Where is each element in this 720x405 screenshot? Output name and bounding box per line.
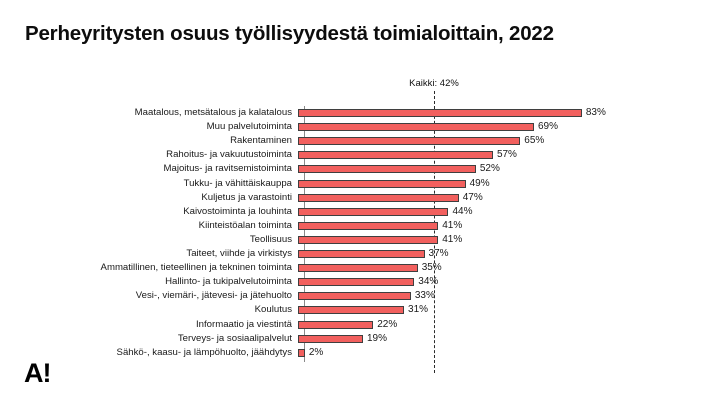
bar [298, 236, 438, 244]
slide-canvas: Perheyritysten osuus työllisyydestä toim… [0, 0, 720, 405]
bar-track: 83% [298, 106, 720, 120]
bar-value-label: 22% [377, 320, 397, 330]
bar-row: Tukku- ja vähittäiskauppa49% [0, 177, 720, 191]
bar-row: Majoitus- ja ravitsemistoiminta52% [0, 162, 720, 176]
bar-track: 37% [298, 247, 720, 261]
bar-track: 41% [298, 219, 720, 233]
bar-value-label: 34% [418, 277, 438, 287]
page-title: Perheyritysten osuus työllisyydestä toim… [25, 22, 554, 46]
bar-value-label: 65% [524, 136, 544, 146]
bar-row: Kuljetus ja varastointi47% [0, 191, 720, 205]
bar-track: 47% [298, 191, 720, 205]
category-label: Rakentaminen [0, 136, 298, 146]
category-label: Koulutus [0, 305, 298, 315]
bar-track: 57% [298, 148, 720, 162]
category-label: Kaivostoiminta ja louhinta [0, 207, 298, 217]
bar-value-label: 44% [452, 207, 472, 217]
bar-track: 49% [298, 177, 720, 191]
bar-row: Terveys- ja sosiaalipalvelut19% [0, 332, 720, 346]
category-label: Terveys- ja sosiaalipalvelut [0, 334, 298, 344]
bar-value-label: 37% [429, 249, 449, 259]
bar-value-label: 33% [415, 291, 435, 301]
bar [298, 292, 411, 300]
bar [298, 335, 363, 343]
bar [298, 165, 476, 173]
category-label: Rahoitus- ja vakuutustoiminta [0, 150, 298, 160]
bar-row: Kaivostoiminta ja louhinta44% [0, 205, 720, 219]
bar-value-label: 19% [367, 334, 387, 344]
bar [298, 306, 404, 314]
bar-track: 34% [298, 275, 720, 289]
bar [298, 264, 418, 272]
bar-value-label: 41% [442, 235, 462, 245]
bar [298, 250, 425, 258]
bar-row: Muu palvelutoiminta69% [0, 120, 720, 134]
bar [298, 109, 582, 117]
bar-row: Rahoitus- ja vakuutustoiminta57% [0, 148, 720, 162]
bar-row: Kiinteistöalan toiminta41% [0, 219, 720, 233]
bar-row: Rakentaminen65% [0, 134, 720, 148]
bar [298, 321, 373, 329]
category-label: Tukku- ja vähittäiskauppa [0, 179, 298, 189]
bar-track: 44% [298, 205, 720, 219]
category-label: Informaatio ja viestintä [0, 320, 298, 330]
bar-row: Ammatillinen, tieteellinen ja tekninen t… [0, 261, 720, 275]
bar-value-label: 52% [480, 164, 500, 174]
bar-track: 22% [298, 318, 720, 332]
category-label: Hallinto- ja tukipalvelutoiminta [0, 277, 298, 287]
bar-track: 52% [298, 162, 720, 176]
bar-track: 35% [298, 261, 720, 275]
bar [298, 208, 448, 216]
aalto-logo: A! [24, 360, 51, 387]
category-label: Taiteet, viihde ja virkistys [0, 249, 298, 259]
bar [298, 278, 414, 286]
bar-value-label: 49% [470, 179, 490, 189]
category-label: Vesi-, viemäri-, jätevesi- ja jätehuolto [0, 291, 298, 301]
bar-row: Sähkö-, kaasu- ja lämpöhuolto, jäähdytys… [0, 346, 720, 360]
bar-value-label: 35% [422, 263, 442, 273]
bar-track: 31% [298, 303, 720, 317]
category-label: Teollisuus [0, 235, 298, 245]
chart-plot-area: Kaikki: 42% Maatalous, metsätalous ja ka… [0, 78, 720, 373]
bar-row: Koulutus31% [0, 303, 720, 317]
bar-row: Informaatio ja viestintä22% [0, 318, 720, 332]
bar-track: 2% [298, 346, 720, 360]
category-label: Kiinteistöalan toiminta [0, 221, 298, 231]
bar-value-label: 83% [586, 108, 606, 118]
category-label: Majoitus- ja ravitsemistoiminta [0, 164, 298, 174]
category-label: Maatalous, metsätalous ja kalatalous [0, 108, 298, 118]
bar-value-label: 2% [309, 348, 323, 358]
bar [298, 137, 520, 145]
category-label: Sähkö-, kaasu- ja lämpöhuolto, jäähdytys [0, 348, 298, 358]
bar-row: Teollisuus41% [0, 233, 720, 247]
bar [298, 123, 534, 131]
bar-value-label: 47% [463, 193, 483, 203]
bar-track: 41% [298, 233, 720, 247]
bar [298, 222, 438, 230]
bar-track: 69% [298, 120, 720, 134]
bar [298, 194, 459, 202]
bar-value-label: 41% [442, 221, 462, 231]
bar-value-label: 31% [408, 305, 428, 315]
bar [298, 180, 466, 188]
bar-row: Taiteet, viihde ja virkistys37% [0, 247, 720, 261]
bar-row: Maatalous, metsätalous ja kalatalous83% [0, 106, 720, 120]
bar-track: 19% [298, 332, 720, 346]
category-label: Ammatillinen, tieteellinen ja tekninen t… [0, 263, 298, 273]
bar-track: 65% [298, 134, 720, 148]
bar-row: Hallinto- ja tukipalvelutoiminta34% [0, 275, 720, 289]
average-reference-label: Kaikki: 42% [409, 78, 459, 89]
category-label: Muu palvelutoiminta [0, 122, 298, 132]
bar-row: Vesi-, viemäri-, jätevesi- ja jätehuolto… [0, 289, 720, 303]
bar-value-label: 69% [538, 122, 558, 132]
bar [298, 349, 305, 357]
category-label: Kuljetus ja varastointi [0, 193, 298, 203]
bar-track: 33% [298, 289, 720, 303]
bar [298, 151, 493, 159]
bar-value-label: 57% [497, 150, 517, 160]
